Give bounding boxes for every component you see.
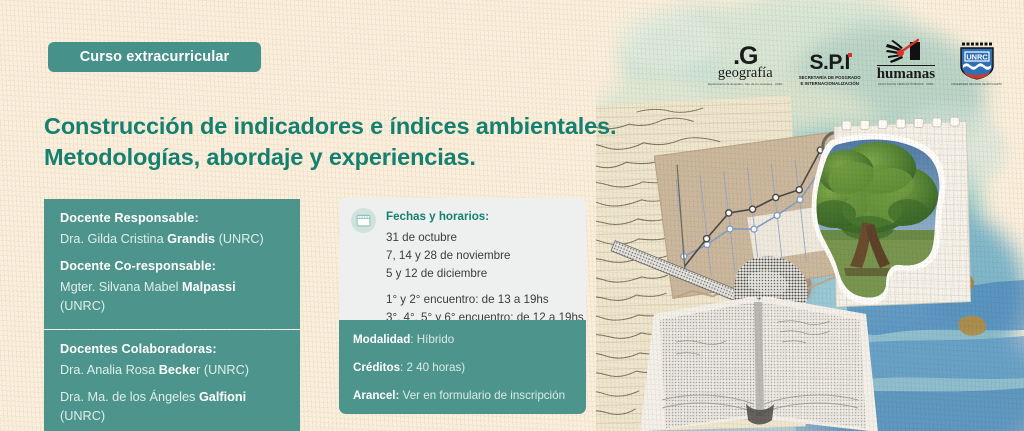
geografia-logo: .G geografía Departamento de Geografía ·… [708, 45, 783, 86]
collaborator-2-suffix: (UNRC) [60, 409, 105, 423]
collaborator-1-surname: Becke [159, 363, 196, 377]
arancel-label: Arancel: [353, 389, 399, 402]
co-responsible-prefix: Mgter. Silvana Mabel [60, 280, 182, 294]
arancel-row: Arancel: Ver en formulario de inscripció… [353, 388, 572, 403]
dates-heading: Fechas y horarios: [386, 210, 489, 223]
course-type-badge: Curso extracurricular [48, 42, 261, 72]
spi-red-dot-icon [848, 53, 852, 57]
co-responsible-suffix: (UNRC) [60, 299, 105, 313]
date-item: 31 de octubre [386, 229, 584, 247]
spi-subtitle: SECRETARÍA DE POSGRADO E INTERNACIONALIZ… [799, 75, 861, 86]
responsible-teacher-surname: Grandis [167, 232, 215, 246]
schedule-item: 1° y 2° encuentro: de 13 a 19hs [386, 291, 584, 309]
collaborator-1: Dra. Analia Rosa Becker (UNRC) [60, 361, 284, 379]
dates-list: 31 de octubre 7, 14 y 28 de noviembre 5 … [386, 229, 584, 327]
creditos-label: Créditos [353, 361, 400, 374]
title-line-1: Construcción de indicadores e índices am… [44, 111, 624, 142]
unrc-subtitle: UNIVERSIDAD NACIONAL DE RÍO CUARTO [951, 83, 1002, 86]
responsible-teacher-heading: Docente Responsable: [60, 211, 284, 225]
collaborator-2-prefix: Dra. Ma. de los Ángeles [60, 390, 199, 404]
page-title: Construcción de indicadores e índices am… [44, 111, 624, 174]
poster-root: Curso extracurricular Construcción de in… [0, 0, 1024, 431]
collaborator-2: Dra. Ma. de los Ángeles Galfioni (UNRC) [60, 388, 284, 425]
humanas-mark-icon [886, 38, 926, 64]
spi-mark-text: S.P.I [810, 51, 850, 74]
collaborator-2-surname: Galfioni [199, 390, 246, 404]
humanas-wordmark: humanas [877, 65, 935, 82]
logo-bar: .G geografía Departamento de Geografía ·… [708, 36, 1002, 86]
collaborator-1-suffix: r (UNRC) [196, 363, 249, 377]
course-details-panel: Modalidad: Híbrido Créditos: 2 40 horas)… [339, 320, 586, 414]
modalidad-row: Modalidad: Híbrido [353, 332, 572, 347]
spi-subtitle-line-2: E INTERNACIONALIZACIÓN [799, 81, 861, 86]
arancel-value: Ver en formulario de inscripción [403, 389, 565, 402]
badge-label: Curso extracurricular [80, 49, 230, 65]
spi-logo: S.P.I SECRETARÍA DE POSGRADO E INTERNACI… [799, 52, 861, 86]
unrc-wordmark: UNRC [966, 53, 988, 62]
spi-mark: S.P.I [810, 52, 850, 73]
title-line-2: Metodologías, abordaje y experiencias. [44, 142, 624, 173]
geografia-mark: .G [733, 45, 757, 68]
date-item: 7, 14 y 28 de noviembre [386, 247, 584, 265]
unrc-logo: UNRC UNIVERSIDAD NACIONAL DE RÍO CUARTO [951, 42, 1002, 86]
collaborators-heading: Docentes Colaboradoras: [60, 342, 284, 356]
modalidad-value: Híbrido [417, 333, 454, 346]
co-responsible-teacher-heading: Docente Co-responsable: [60, 259, 284, 273]
unrc-shield-icon: UNRC [958, 42, 996, 82]
dates-info-panel: Fechas y horarios: 31 de octubre 7, 14 y… [339, 198, 586, 320]
modalidad-label: Modalidad [353, 333, 410, 346]
calendar-icon [351, 208, 376, 233]
collaborators-card: Docentes Colaboradoras: Dra. Analia Rosa… [44, 330, 300, 431]
co-responsible-teacher-name: Mgter. Silvana Mabel Malpassi (UNRC) [60, 278, 284, 315]
creditos-value: 2 40 horas) [406, 361, 465, 374]
geografia-subtitle: Departamento de Geografía · Fac. de Cs. … [708, 83, 783, 86]
responsible-teacher-prefix: Dra. Gilda Cristina [60, 232, 167, 246]
spi-subtitle-line-1: SECRETARÍA DE POSGRADO [799, 75, 861, 80]
humanas-subtitle: FACULTAD DE CIENCIAS HUMANAS · UNRC [878, 83, 934, 86]
responsible-teacher-suffix: (UNRC) [215, 232, 264, 246]
date-item: 5 y 12 de diciembre [386, 265, 584, 283]
humanas-logo: humanas FACULTAD DE CIENCIAS HUMANAS · U… [877, 38, 935, 86]
collaborator-1-prefix: Dra. Analia Rosa [60, 363, 159, 377]
responsible-teacher-name: Dra. Gilda Cristina Grandis (UNRC) [60, 230, 284, 248]
teachers-card: Docente Responsable: Dra. Gilda Cristina… [44, 199, 300, 329]
co-responsible-surname: Malpassi [182, 280, 236, 294]
creditos-row: Créditos: 2 40 horas) [353, 360, 572, 375]
